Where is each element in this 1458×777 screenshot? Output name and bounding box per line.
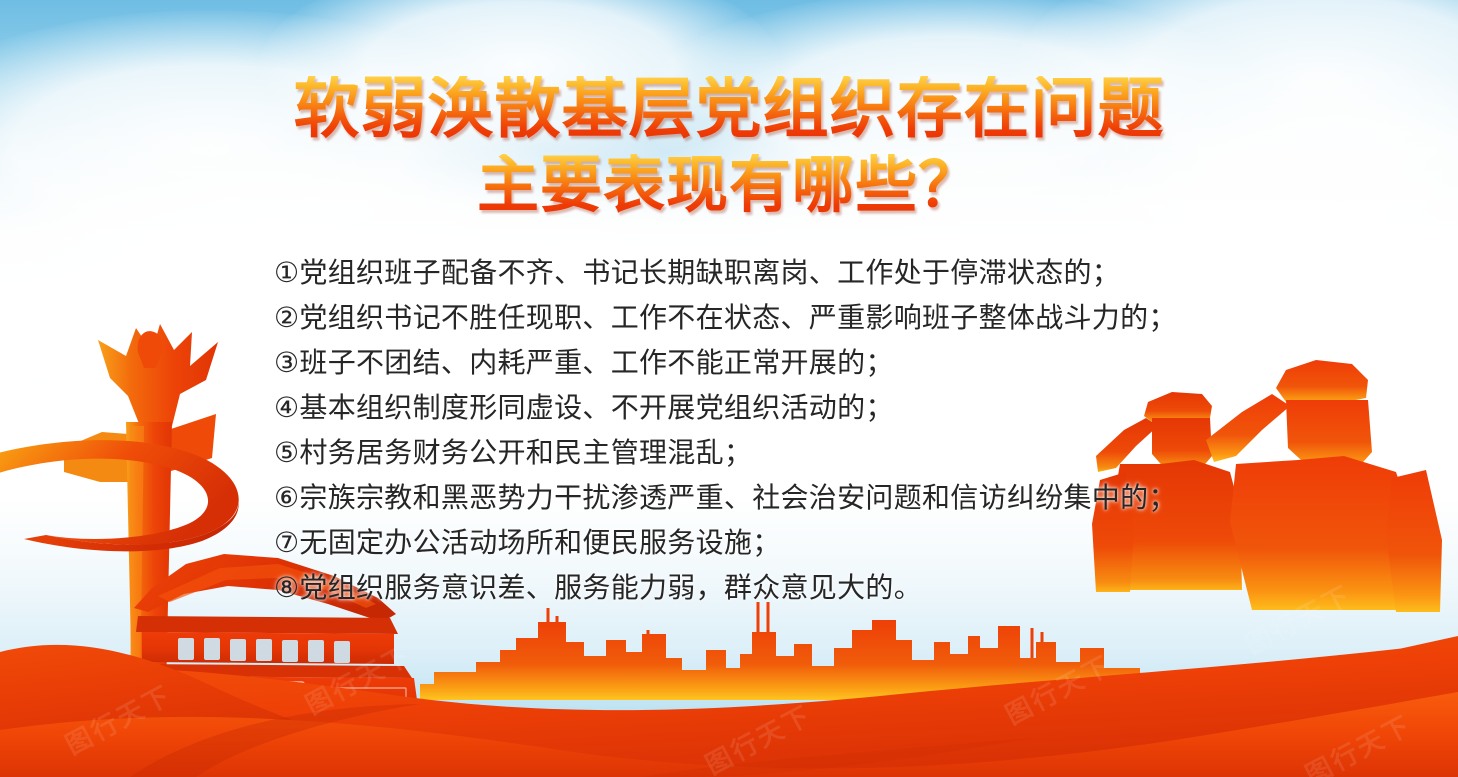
list-item: ④基本组织制度形同虚设、不开展党组织活动的； xyxy=(274,385,1274,430)
list-item: ⑦无固定办公活动场所和便民服务设施； xyxy=(274,520,1274,565)
problem-list: ①党组织班子配备不齐、书记长期缺职离岗、工作处于停滞状态的； ②党组织书记不胜任… xyxy=(274,250,1274,610)
list-item: ⑥宗族宗教和黑恶势力干扰渗透严重、社会治安问题和信访纠纷集中的； xyxy=(274,475,1274,520)
list-item: ①党组织班子配备不齐、书记长期缺职离岗、工作处于停滞状态的； xyxy=(274,250,1274,295)
red-hills-icon xyxy=(0,600,1458,777)
list-item: ③班子不团结、内耗严重、工作不能正常开展的； xyxy=(274,340,1274,385)
list-item: ⑤村务居务财务公开和民主管理混乱； xyxy=(274,430,1274,475)
poster-canvas: 图行天下 图行天下 图行天下 图行天下 图行天下 图行天下 软弱涣散基层党组织存… xyxy=(0,0,1458,777)
list-item: ②党组织书记不胜任现职、工作不在状态、严重影响班子整体战斗力的； xyxy=(274,295,1274,340)
list-item: ⑧党组织服务意识差、服务能力弱，群众意见大的。 xyxy=(274,565,1274,610)
ribbon-swoosh-icon xyxy=(0,425,300,555)
